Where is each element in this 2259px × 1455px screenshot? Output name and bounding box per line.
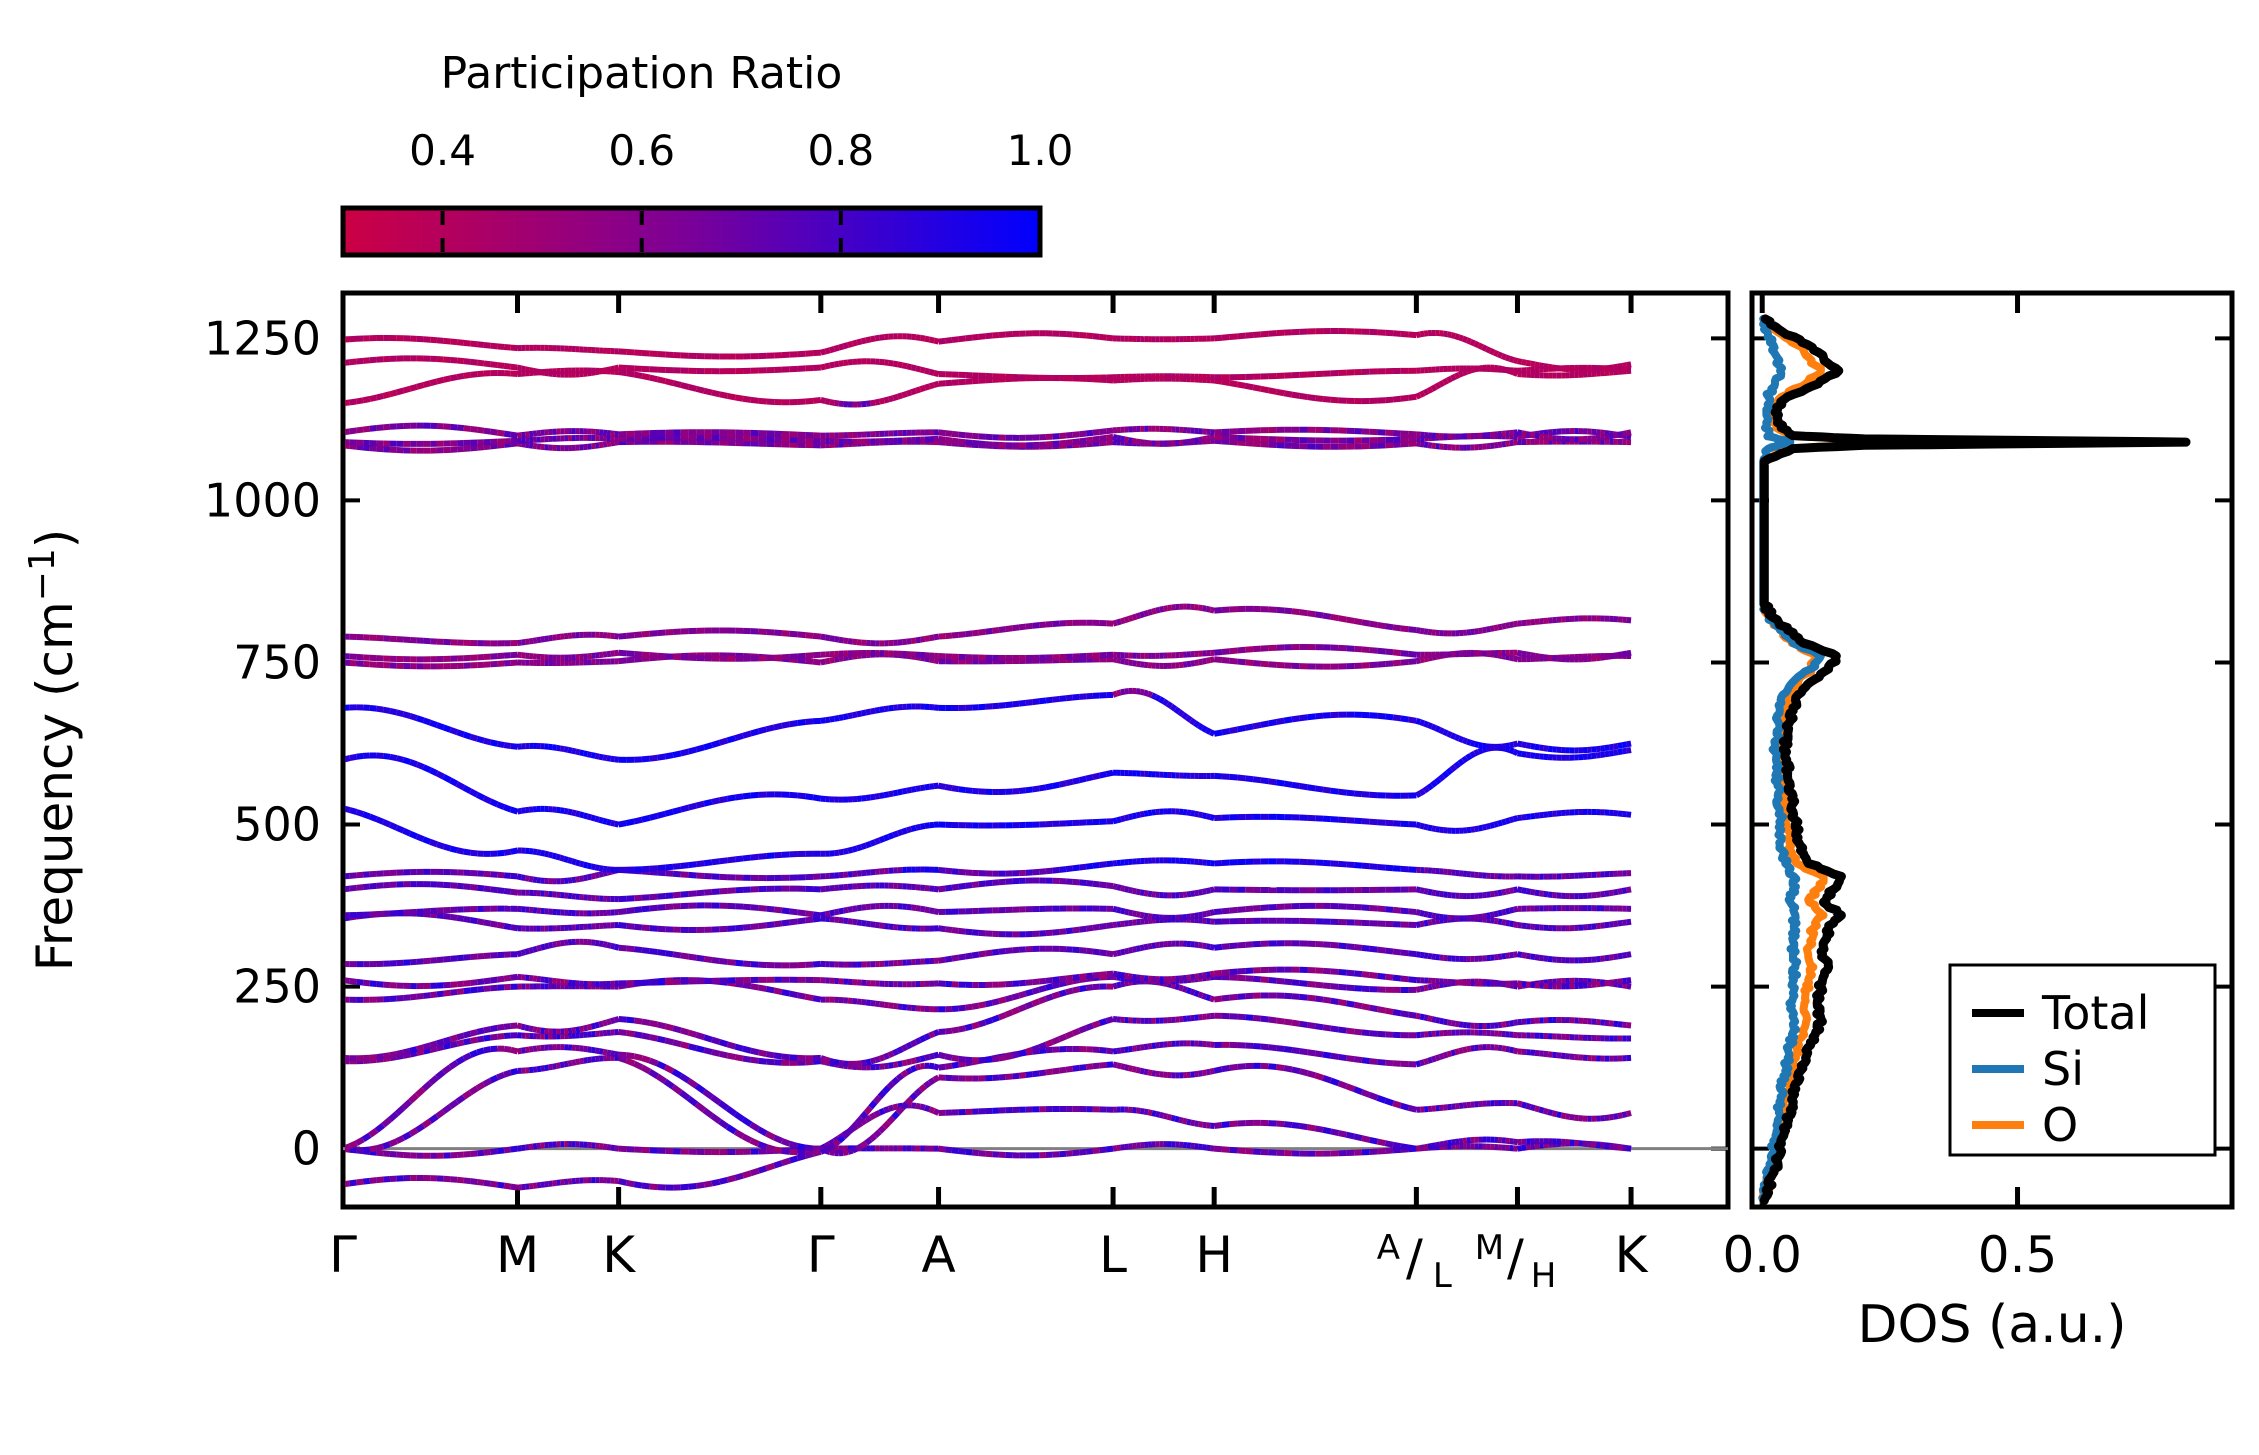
figure-canvas: Participation Ratio0.40.60.81.0025050075…: [0, 0, 2259, 1455]
band-segment: [1574, 1118, 1578, 1119]
band-segment: [572, 1062, 576, 1063]
band-segment: [1179, 987, 1183, 988]
band-segment: [477, 956, 484, 957]
band-segment: [1230, 729, 1238, 730]
band-segment: [1195, 893, 1199, 894]
band-segment: [907, 907, 912, 908]
band-segment: [350, 810, 357, 812]
band-segment: [1420, 1062, 1424, 1063]
band-segment: [1086, 866, 1093, 867]
band-segment: [681, 865, 689, 866]
band-segment: [504, 1036, 511, 1037]
band-segment: [1510, 890, 1514, 891]
band-segment: [471, 982, 478, 983]
band-segment: [1416, 924, 1420, 925]
band-segment: [673, 753, 681, 755]
band-segment: [1117, 910, 1121, 911]
band-segment: [857, 713, 862, 714]
band-segment: [1592, 756, 1596, 757]
band-segment: [619, 1058, 627, 1061]
band-segment: [356, 1182, 363, 1183]
band-segment: [1202, 891, 1206, 892]
band-segment: [880, 1057, 885, 1059]
band-segment: [759, 1129, 767, 1133]
band-segment: [1618, 1115, 1622, 1116]
band-segment: [821, 914, 826, 915]
band-segment: [1420, 955, 1424, 956]
band-segment: [797, 1146, 805, 1148]
band-segment: [390, 1054, 397, 1055]
band-segment: [1510, 658, 1514, 659]
band-segment: [450, 1179, 457, 1180]
band-segment: [898, 832, 903, 834]
band-segment: [911, 1094, 916, 1098]
band-segment: [1526, 956, 1530, 957]
band-segment: [1315, 1075, 1323, 1077]
band-segment: [560, 1064, 564, 1065]
band-segment: [444, 916, 451, 917]
band-segment: [521, 1027, 525, 1028]
band-segment: [484, 889, 491, 890]
band-segment: [1152, 945, 1156, 946]
band-segment: [1539, 1110, 1543, 1111]
band-segment: [595, 943, 599, 944]
band-segment: [999, 882, 1006, 883]
band-segment: [911, 828, 916, 829]
band-segment: [945, 871, 952, 872]
band-segment: [1393, 717, 1401, 718]
band-segment: [959, 1059, 966, 1060]
band-segment: [1362, 866, 1370, 867]
band-segment: [471, 1052, 478, 1055]
band-segment: [650, 908, 658, 909]
band-segment: [871, 1115, 876, 1118]
band-segment: [902, 1103, 907, 1108]
band-segment: [1354, 821, 1362, 822]
band-segment: [712, 743, 720, 745]
band-segment: [1467, 756, 1471, 758]
band-segment: [1253, 779, 1261, 780]
band-segment: [986, 883, 993, 884]
band-segment: [1156, 697, 1160, 699]
band-segment: [450, 1062, 457, 1067]
band-segment: [650, 1072, 658, 1077]
band-segment: [1113, 659, 1117, 660]
band-segment: [1106, 442, 1113, 443]
band-segment: [1522, 1147, 1526, 1148]
band-segment: [1531, 892, 1535, 893]
band-segment: [1393, 951, 1401, 952]
band-segment: [939, 1149, 946, 1150]
band-segment: [511, 810, 518, 812]
band-segment: [1622, 1114, 1626, 1115]
band-segment: [1498, 627, 1502, 628]
band-segment: [952, 1008, 959, 1009]
band-segment: [1292, 982, 1300, 983]
band-segment: [397, 1052, 404, 1053]
band-segment: [521, 1050, 525, 1051]
band-segment: [1033, 625, 1040, 626]
band-segment: [766, 727, 774, 729]
band-segment: [1506, 820, 1510, 821]
band-segment: [1191, 720, 1195, 723]
band-segment: [1202, 728, 1206, 730]
band-segment: [1331, 617, 1339, 618]
band-segment: [471, 1040, 478, 1041]
band-segment: [417, 718, 424, 720]
band-segment: [1346, 1031, 1354, 1032]
band-segment: [929, 786, 934, 787]
band-segment: [1136, 1110, 1140, 1111]
band-segment: [1428, 892, 1432, 893]
band-segment: [437, 915, 444, 916]
band-segment: [1385, 1150, 1393, 1151]
band-segment: [1206, 946, 1210, 947]
band-segment: [588, 877, 592, 878]
band-segment: [965, 1026, 972, 1028]
band-segment: [1385, 977, 1393, 978]
band-segment: [1195, 662, 1199, 663]
band-segment: [1370, 1140, 1378, 1142]
band-segment: [591, 1050, 595, 1051]
band-segment: [1125, 817, 1129, 818]
band-segment: [1428, 987, 1432, 988]
band-segment: [834, 912, 839, 913]
band-segment: [1006, 1012, 1013, 1015]
band-segment: [805, 919, 813, 920]
band-segment: [658, 896, 666, 897]
band-segment: [491, 889, 498, 890]
band-segment: [1206, 660, 1210, 661]
band-segment: [477, 1039, 484, 1040]
band-segment: [1600, 983, 1604, 984]
band-segment: [1362, 1060, 1370, 1061]
band-segment: [902, 1062, 907, 1063]
band-segment: [370, 1130, 377, 1135]
band-segment: [1191, 977, 1195, 978]
band-segment: [383, 1153, 390, 1154]
band-segment: [1592, 1145, 1596, 1146]
band-segment: [782, 1151, 790, 1152]
band-segment: [1199, 814, 1203, 815]
band-segment: [1451, 1142, 1455, 1143]
band-segment: [1237, 728, 1245, 730]
band-segment: [884, 1109, 889, 1111]
band-segment: [549, 638, 553, 639]
band-segment: [782, 724, 790, 725]
band-segment: [1339, 1057, 1347, 1058]
band-segment: [504, 891, 511, 892]
band-segment: [871, 924, 876, 925]
band-segment: [450, 1044, 457, 1046]
band-segment: [712, 1116, 720, 1122]
band-segment: [417, 764, 424, 767]
band-segment: [952, 1150, 959, 1151]
band-segment: [884, 1005, 889, 1006]
band-segment: [889, 1005, 894, 1006]
band-segment: [1136, 948, 1140, 949]
band-segment: [1202, 1072, 1206, 1073]
band-segment: [1416, 1063, 1420, 1064]
band-segment: [1424, 1017, 1428, 1018]
band-segment: [377, 1153, 384, 1154]
band-segment: [1614, 956, 1618, 957]
band-segment: [1526, 745, 1530, 746]
band-segment: [839, 658, 844, 659]
band-segment: [1080, 779, 1087, 781]
band-segment: [615, 824, 619, 825]
band-segment: [1187, 664, 1191, 665]
band-segment: [1210, 610, 1214, 611]
band-segment: [952, 788, 959, 789]
band-segment: [1377, 822, 1385, 823]
band-segment: [1026, 626, 1033, 627]
band-segment: [390, 825, 397, 828]
band-segment: [1385, 1101, 1393, 1104]
band-segment: [665, 656, 673, 657]
band-segment: [893, 1079, 898, 1083]
band-segment: [450, 730, 457, 732]
band-segment: [1222, 1124, 1230, 1125]
band-segment: [880, 1111, 885, 1113]
band-segment: [1222, 731, 1230, 732]
band-segment: [774, 1138, 782, 1141]
band-segment: [1420, 923, 1424, 924]
band-segment: [626, 1183, 634, 1184]
band-segment: [1506, 443, 1510, 444]
band-segment: [1370, 715, 1378, 716]
band-segment: [1315, 614, 1323, 615]
band-segment: [553, 944, 557, 945]
band-segment: [1323, 1027, 1331, 1028]
band-segment: [537, 948, 541, 949]
band-segment: [504, 1049, 511, 1050]
band-segment: [805, 721, 813, 722]
band-segment: [1514, 889, 1518, 890]
band-segment: [477, 1084, 484, 1088]
band-segment: [1486, 915, 1490, 916]
band-segment: [1531, 655, 1535, 656]
band-segment: [634, 654, 642, 655]
band-segment: [1535, 756, 1539, 757]
band-segment: [1012, 627, 1019, 628]
band-segment: [642, 1036, 650, 1038]
band-segment: [1053, 1039, 1060, 1042]
band-segment: [1206, 609, 1210, 610]
band-segment: [689, 893, 697, 894]
band-segment: [1377, 625, 1385, 626]
band-segment: [1459, 1050, 1463, 1051]
band-segment: [920, 909, 925, 910]
band-segment: [1447, 1143, 1451, 1144]
band-segment: [1245, 662, 1253, 663]
x-tick-label: K: [1615, 1226, 1649, 1284]
band-segment: [504, 745, 511, 746]
band-segment: [1416, 1148, 1420, 1149]
band-segment: [813, 1152, 821, 1154]
band-segment: [1354, 1136, 1362, 1138]
band-segment: [704, 1037, 712, 1039]
band-segment: [518, 811, 522, 812]
band-segment: [634, 659, 642, 660]
band-segment: [556, 857, 560, 858]
x-tick-label: K: [602, 1226, 636, 1284]
band-segment: [1214, 732, 1222, 733]
band-segment: [1517, 925, 1521, 926]
y-tick-label: 0: [292, 1122, 321, 1176]
band-segment: [1006, 1056, 1013, 1058]
band-segment: [884, 926, 889, 927]
band-segment: [1117, 621, 1121, 622]
band-segment: [1609, 747, 1613, 748]
band-segment: [952, 958, 959, 959]
band-segment: [471, 448, 478, 449]
band-segment: [1362, 1138, 1370, 1140]
band-segment: [1039, 1072, 1046, 1073]
band-segment: [1210, 947, 1214, 948]
band-segment: [491, 742, 498, 743]
band-segment: [383, 756, 390, 757]
band-segment: [1059, 1154, 1066, 1155]
band-segment: [1183, 715, 1187, 718]
band-segment: [1125, 619, 1129, 620]
band-segment: [377, 1125, 384, 1130]
band-segment: [986, 1154, 993, 1155]
band-segment: [1033, 990, 1040, 992]
band-segment: [1222, 1068, 1230, 1069]
band-segment: [898, 1108, 903, 1113]
band-segment: [1187, 990, 1191, 991]
band-segment: [1393, 1012, 1401, 1013]
band-segment: [1609, 893, 1613, 894]
band-segment: [1451, 767, 1455, 770]
band-segment: [397, 1108, 404, 1114]
band-segment: [619, 925, 627, 926]
band-segment: [591, 818, 595, 819]
band-segment: [1502, 444, 1506, 445]
band-segment: [929, 1080, 934, 1083]
band-segment: [1459, 739, 1463, 741]
band-segment: [1106, 1051, 1113, 1052]
band-segment: [1171, 985, 1175, 986]
band-segment: [1315, 788, 1323, 789]
band-segment: [1370, 949, 1378, 950]
band-segment: [1269, 1047, 1277, 1048]
band-segment: [1482, 746, 1486, 747]
band-segment: [853, 714, 858, 715]
band-segment: [1222, 660, 1230, 661]
band-segment: [1339, 820, 1347, 821]
band-segment: [720, 1054, 728, 1056]
band-segment: [1409, 443, 1417, 444]
band-segment: [889, 793, 894, 794]
band-segment: [410, 997, 417, 998]
band-segment: [866, 797, 871, 798]
band-segment: [979, 1153, 986, 1154]
band-segment: [813, 636, 821, 637]
band-segment: [518, 876, 522, 877]
band-segment: [1531, 755, 1535, 756]
band-segment: [1596, 755, 1600, 756]
band-segment: [1479, 917, 1483, 918]
band-segment: [1506, 1024, 1510, 1025]
band-segment: [751, 1124, 759, 1129]
band-segment: [1140, 1071, 1144, 1072]
band-segment: [1362, 794, 1370, 795]
band-segment: [1544, 657, 1548, 658]
band-segment: [1245, 726, 1253, 728]
band-segment: [1605, 983, 1609, 984]
band-segment: [1133, 663, 1137, 664]
band-segment: [1214, 610, 1222, 611]
band-segment: [1444, 773, 1448, 776]
band-segment: [986, 1003, 993, 1004]
band-segment: [1261, 1047, 1269, 1048]
band-segment: [1354, 988, 1362, 989]
band-segment: [1121, 1050, 1125, 1051]
band-segment: [743, 1119, 751, 1124]
band-segment: [782, 633, 790, 634]
band-segment: [1080, 929, 1087, 930]
band-segment: [553, 747, 557, 748]
band-segment: [1331, 791, 1339, 792]
band-segment: [1237, 778, 1245, 779]
band-segment: [584, 815, 588, 816]
band-segment: [1206, 1072, 1210, 1073]
band-segment: [1059, 1036, 1066, 1039]
band-segment: [1459, 761, 1463, 764]
band-segment: [1144, 1047, 1148, 1048]
band-segment: [751, 795, 759, 796]
band-segment: [560, 858, 564, 859]
band-segment: [759, 1052, 767, 1054]
band-segment: [642, 1186, 650, 1187]
band-segment: [790, 1057, 798, 1058]
band-segment: [1323, 790, 1331, 791]
band-segment: [1164, 701, 1168, 703]
band-segment: [511, 892, 518, 893]
band-segment: [1100, 864, 1107, 865]
band-segment: [1385, 951, 1393, 952]
band-segment: [545, 854, 549, 855]
band-segment: [541, 853, 545, 854]
band-segment: [1117, 660, 1121, 661]
band-segment: [525, 810, 529, 811]
band-segment: [759, 856, 767, 857]
band-segment: [572, 880, 576, 881]
band-segment: [681, 1092, 689, 1098]
band-segment: [529, 1028, 533, 1029]
band-segment: [1125, 889, 1129, 890]
band-segment: [911, 640, 916, 641]
band-segment: [511, 1025, 518, 1026]
band-segment: [584, 1060, 588, 1061]
band-segment: [1428, 1060, 1432, 1061]
band-segment: [866, 1117, 871, 1120]
band-segment: [929, 659, 934, 660]
band-segment: [1210, 912, 1214, 913]
band-segment: [1140, 692, 1144, 693]
band-segment: [1117, 887, 1121, 888]
band-segment: [766, 855, 774, 856]
band-segment: [1354, 621, 1362, 622]
band-segment: [1253, 663, 1261, 664]
band-segment: [825, 720, 830, 721]
band-segment: [1416, 660, 1420, 661]
band-segment: [1409, 661, 1417, 662]
band-segment: [1622, 955, 1626, 956]
band-segment: [821, 720, 826, 721]
